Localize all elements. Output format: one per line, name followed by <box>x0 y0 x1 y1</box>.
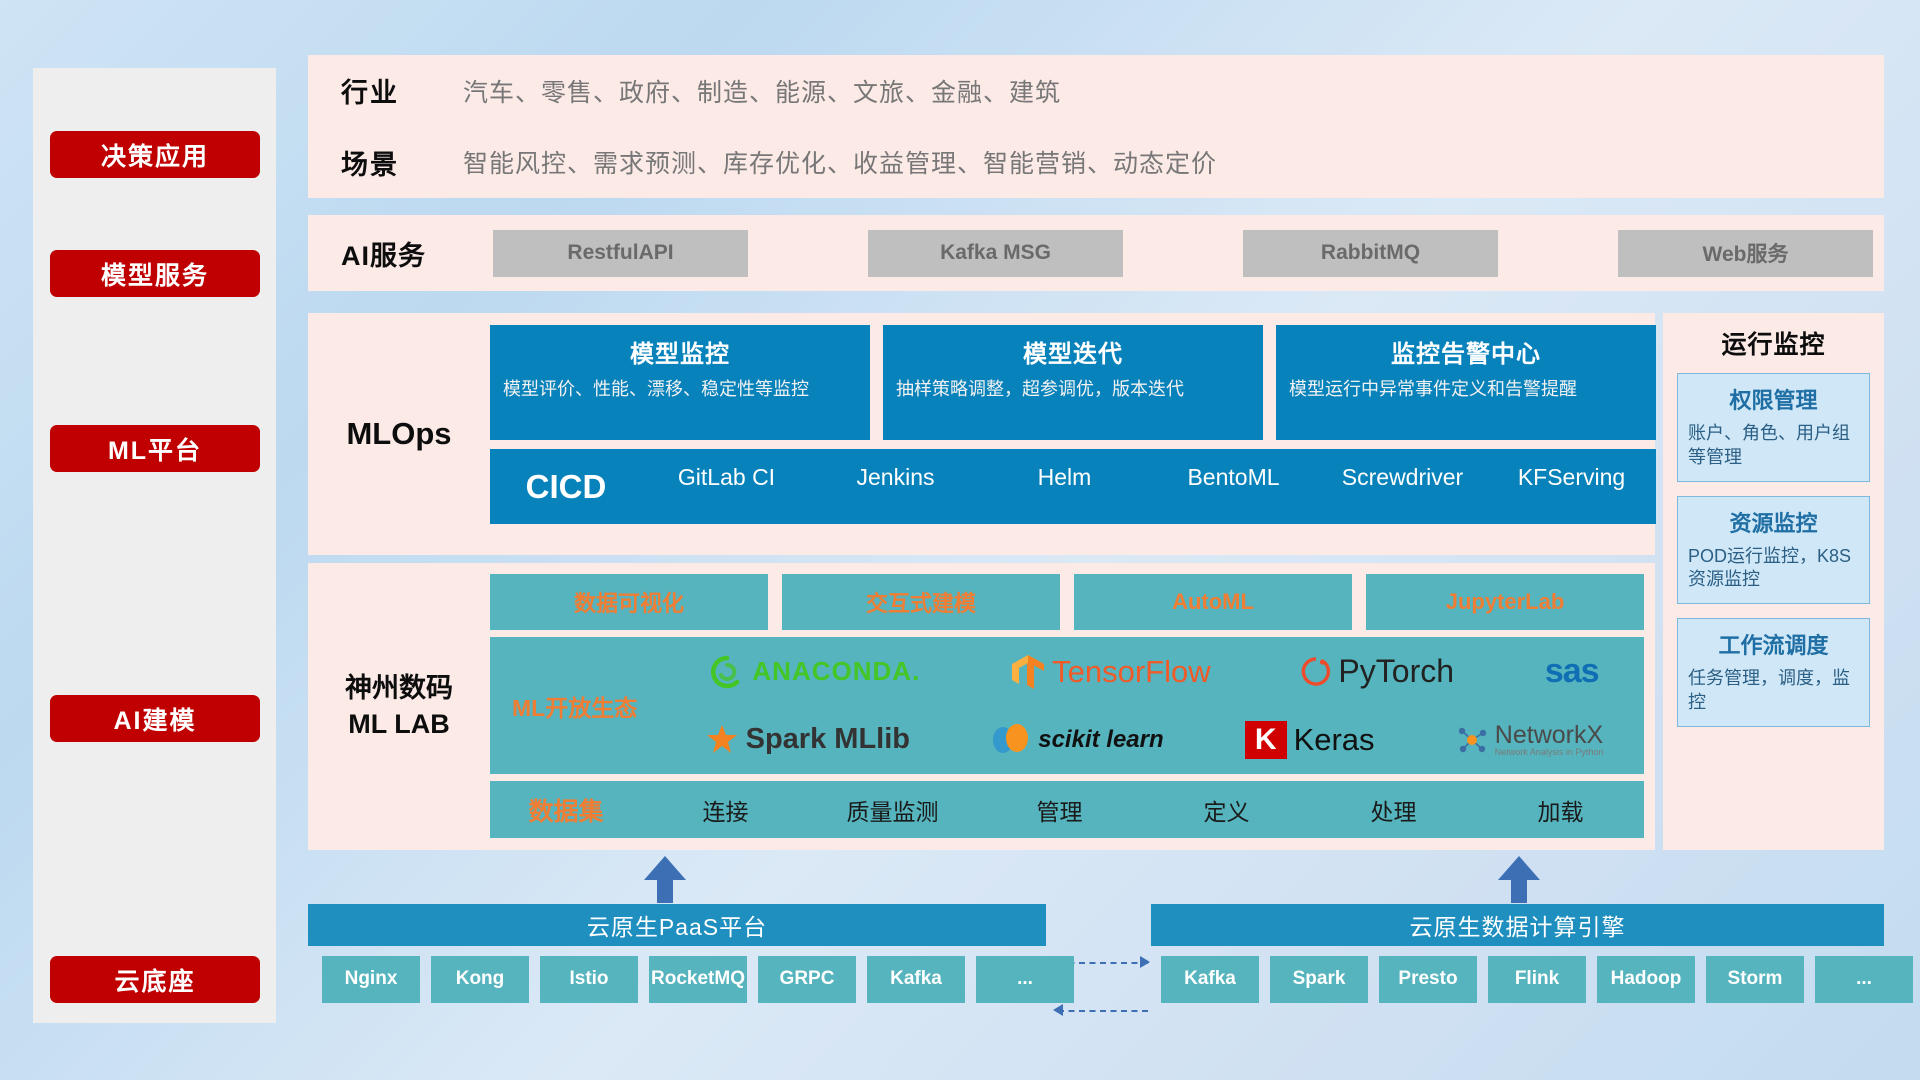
sas-wordmark: sas <box>1545 652 1599 691</box>
spark-star-icon <box>705 723 739 757</box>
scikit-learn-icon <box>991 723 1031 757</box>
card-title: 工作流调度 <box>1688 628 1859 660</box>
layer-rail: 决策应用 模型服务 ML平台 AI建模 云底座 <box>33 68 276 1023</box>
cf-chip-rocketmq[interactable]: RocketMQ <box>649 956 747 1003</box>
anaconda-wordmark: ANACONDA. <box>752 656 920 687</box>
card-desc: POD运行监控，K8S资源监控 <box>1688 545 1859 593</box>
decision-apps-band: 行业 汽车、零售、政府、制造、能源、文旅、金融、建筑 场景 智能风控、需求预测、… <box>308 55 1884 198</box>
keras-wordmark: Keras <box>1294 722 1375 758</box>
cf-chip-presto[interactable]: Presto <box>1379 956 1477 1003</box>
pytorch-logo: PyTorch <box>1301 653 1454 690</box>
dataset-item-process[interactable]: 处理 <box>1310 793 1477 827</box>
cloud-paas-chip-row: Nginx Kong Istio RocketMQ GRPC Kafka ... <box>322 956 1074 1003</box>
keras-logo: K Keras <box>1245 721 1375 759</box>
layer-label: ML平台 <box>108 431 202 467</box>
layer-label: 云底座 <box>114 962 195 998</box>
pytorch-wordmark: PyTorch <box>1338 653 1454 690</box>
dataset-item-manage[interactable]: 管理 <box>976 793 1143 827</box>
mlops-label-col: MLOps <box>308 313 490 555</box>
dataset-item-quality[interactable]: 质量监测 <box>809 793 976 827</box>
scenario-label: 场景 <box>341 143 463 182</box>
ml-ecosystem-logo-row-1: ANACONDA. TensorFlow <box>664 641 1644 703</box>
ml-lab-label-line1: 神州数码 <box>345 671 453 706</box>
ai-service-band: AI服务 RestfulAPI Kafka MSG RabbitMQ Web服务 <box>308 215 1884 291</box>
tensorflow-wordmark: TensorFlow <box>1052 654 1211 690</box>
cf-chip-flink[interactable]: Flink <box>1488 956 1586 1003</box>
cicd-item-kfserving[interactable]: KFServing <box>1487 463 1656 491</box>
dataset-item-define[interactable]: 定义 <box>1143 793 1310 827</box>
mlops-body: 模型监控 模型评价、性能、漂移、稳定性等监控 模型迭代 抽样策略调整，超参调优，… <box>490 313 1667 535</box>
ai-service-chip-restfulapi[interactable]: RestfulAPI <box>493 230 748 277</box>
dataset-item-row: 连接 质量监测 管理 定义 处理 加载 <box>642 793 1644 827</box>
ml-ecosystem-logo-row-2: Spark MLlib scikit learn K Keras <box>664 709 1644 771</box>
cf-chip-nginx[interactable]: Nginx <box>322 956 420 1003</box>
layer-chip-ml-platform[interactable]: ML平台 <box>50 425 260 472</box>
pytorch-icon <box>1301 654 1331 690</box>
card-desc: 模型评价、性能、漂移、稳定性等监控 <box>503 378 857 402</box>
layer-label: 模型服务 <box>101 256 209 292</box>
tensorflow-icon <box>1011 653 1045 691</box>
runtime-monitor-title: 运行监控 <box>1677 325 1870 361</box>
cf-chip-kafka[interactable]: Kafka <box>867 956 965 1003</box>
card-desc: 账户、角色、用户组等管理 <box>1688 422 1859 470</box>
scikit-learn-wordmark: scikit learn <box>1038 726 1163 754</box>
scenario-row: 场景 智能风控、需求预测、库存优化、收益管理、智能营销、动态定价 <box>308 127 1884 199</box>
cicd-item-bentoml[interactable]: BentoML <box>1149 463 1318 491</box>
cf-chip-spark[interactable]: Spark <box>1270 956 1368 1003</box>
cf-chip-storm[interactable]: Storm <box>1706 956 1804 1003</box>
card-title: 资源监控 <box>1688 506 1859 538</box>
architecture-diagram: 决策应用 模型服务 ML平台 AI建模 云底座 行业 汽车、零售、政府、制造、能… <box>0 0 1920 1080</box>
card-desc: 任务管理，调度，监控 <box>1688 667 1859 715</box>
dataset-item-load[interactable]: 加载 <box>1477 793 1644 827</box>
monitor-card-workflow[interactable]: 工作流调度 任务管理，调度，监控 <box>1677 618 1870 727</box>
scikit-learn-logo: scikit learn <box>991 723 1163 757</box>
ml-lab-body: 数据可视化 交互式建模 AutoML JupyterLab ML开放生态 ANA… <box>490 563 1655 849</box>
monitor-card-resource[interactable]: 资源监控 POD运行监控，K8S资源监控 <box>1677 496 1870 605</box>
industry-value: 汽车、零售、政府、制造、能源、文旅、金融、建筑 <box>463 73 1061 109</box>
card-title: 模型监控 <box>503 334 857 369</box>
ai-service-chip-rabbitmq[interactable]: RabbitMQ <box>1243 230 1498 277</box>
ai-service-chip-web-service[interactable]: Web服务 <box>1618 230 1873 277</box>
mlops-band: MLOps 模型监控 模型评价、性能、漂移、稳定性等监控 模型迭代 抽样策略调整… <box>308 313 1655 555</box>
cicd-item-row: GitLab CI Jenkins Helm BentoML Screwdriv… <box>642 449 1656 524</box>
layer-chip-ai-modeling[interactable]: AI建模 <box>50 695 260 742</box>
cicd-item-screwdriver[interactable]: Screwdriver <box>1318 463 1487 491</box>
networkx-logo: NetworkX Network Analysis in Python <box>1456 723 1604 757</box>
tool-chip-interactive-modeling[interactable]: 交互式建模 <box>782 574 1060 630</box>
arrow-up-paas <box>644 856 686 902</box>
ml-ecosystem-logo-grid: ANACONDA. TensorFlow <box>664 641 1644 771</box>
ml-lab-label-line2: ML LAB <box>348 707 450 742</box>
ml-lab-tool-chip-row: 数据可视化 交互式建模 AutoML JupyterLab <box>490 574 1644 630</box>
cf-chip-grpc[interactable]: GRPC <box>758 956 856 1003</box>
industry-label: 行业 <box>341 71 463 110</box>
ai-service-chip-kafka-msg[interactable]: Kafka MSG <box>868 230 1123 277</box>
dashed-arrow-right-head <box>1140 956 1150 968</box>
cf-chip-kafka-data[interactable]: Kafka <box>1161 956 1259 1003</box>
card-title: 模型迭代 <box>896 334 1250 369</box>
mlops-card-alert-center[interactable]: 监控告警中心 模型运行中异常事件定义和告警提醒 <box>1276 325 1656 440</box>
ml-ecosystem-block: ML开放生态 ANACONDA. <box>490 637 1644 774</box>
mlops-label: MLOps <box>346 416 451 452</box>
cloud-data-engine-bar[interactable]: 云原生数据计算引擎 <box>1151 904 1884 946</box>
anaconda-icon <box>709 654 745 690</box>
arrow-up-data-engine <box>1498 856 1540 902</box>
networkx-tagline: Network Analysis in Python <box>1495 748 1604 757</box>
layer-chip-cloud-base[interactable]: 云底座 <box>50 956 260 1003</box>
anaconda-logo: ANACONDA. <box>709 654 920 690</box>
cf-chip-hadoop[interactable]: Hadoop <box>1597 956 1695 1003</box>
layer-label: AI建模 <box>113 701 196 737</box>
networkx-graph-icon <box>1456 724 1488 756</box>
dashed-arrow-left-head <box>1053 1004 1063 1016</box>
sas-logo: sas <box>1545 652 1599 691</box>
tool-chip-data-visualization[interactable]: 数据可视化 <box>490 574 768 630</box>
card-desc: 抽样策略调整，超参调优，版本迭代 <box>896 378 1250 402</box>
cloud-data-engine-chip-row: Kafka Spark Presto Flink Hadoop Storm ..… <box>1161 956 1913 1003</box>
cloud-paas-title: 云原生PaaS平台 <box>587 908 767 942</box>
ml-ecosystem-label: ML开放生态 <box>512 689 664 723</box>
scenario-value: 智能风控、需求预测、库存优化、收益管理、智能营销、动态定价 <box>463 144 1217 180</box>
cicd-bar: CICD GitLab CI Jenkins Helm BentoML Scre… <box>490 449 1656 524</box>
cf-chip-more[interactable]: ... <box>976 956 1074 1003</box>
cf-chip-istio[interactable]: Istio <box>540 956 638 1003</box>
tool-chip-automl[interactable]: AutoML <box>1074 574 1352 630</box>
cloud-paas-bar[interactable]: 云原生PaaS平台 <box>308 904 1046 946</box>
card-title: 权限管理 <box>1688 383 1859 415</box>
cf-chip-kong[interactable]: Kong <box>431 956 529 1003</box>
dataset-title: 数据集 <box>490 792 642 828</box>
dashed-link-left <box>1058 1010 1148 1012</box>
card-title: 监控告警中心 <box>1289 334 1643 369</box>
runtime-monitor-panel: 运行监控 权限管理 账户、角色、用户组等管理 资源监控 POD运行监控，K8S资… <box>1663 313 1884 850</box>
cicd-title: CICD <box>490 468 642 506</box>
monitor-card-permission[interactable]: 权限管理 账户、角色、用户组等管理 <box>1677 373 1870 482</box>
industry-row: 行业 汽车、零售、政府、制造、能源、文旅、金融、建筑 <box>308 55 1884 127</box>
mlops-card-model-iteration[interactable]: 模型迭代 抽样策略调整，超参调优，版本迭代 <box>883 325 1263 440</box>
tool-chip-jupyterlab[interactable]: JupyterLab <box>1366 574 1644 630</box>
layer-label: 决策应用 <box>101 137 209 173</box>
cf-chip-more-data[interactable]: ... <box>1815 956 1913 1003</box>
ai-service-label: AI服务 <box>341 234 493 273</box>
cicd-item-jenkins[interactable]: Jenkins <box>811 463 980 491</box>
card-desc: 模型运行中异常事件定义和告警提醒 <box>1289 378 1643 402</box>
mlops-card-row: 模型监控 模型评价、性能、漂移、稳定性等监控 模型迭代 抽样策略调整，超参调优，… <box>490 325 1656 440</box>
layer-chip-model-service[interactable]: 模型服务 <box>50 250 260 297</box>
spark-mllib-logo: Spark MLlib <box>705 723 910 757</box>
mlops-card-model-monitoring[interactable]: 模型监控 模型评价、性能、漂移、稳定性等监控 <box>490 325 870 440</box>
ml-lab-band: 神州数码 ML LAB 数据可视化 交互式建模 AutoML JupyterLa… <box>308 563 1655 850</box>
ai-service-chip-row: RestfulAPI Kafka MSG RabbitMQ Web服务 <box>493 230 1884 277</box>
cicd-item-gitlab-ci[interactable]: GitLab CI <box>642 463 811 491</box>
dataset-bar: 数据集 连接 质量监测 管理 定义 处理 加载 <box>490 781 1644 838</box>
layer-chip-decision-app[interactable]: 决策应用 <box>50 131 260 178</box>
ml-lab-label-col: 神州数码 ML LAB <box>308 563 490 850</box>
cicd-item-helm[interactable]: Helm <box>980 463 1149 491</box>
tensorflow-logo: TensorFlow <box>1011 653 1211 691</box>
networkx-wordmark: NetworkX <box>1495 723 1604 748</box>
cloud-data-engine-title: 云原生数据计算引擎 <box>1410 908 1626 942</box>
dataset-item-connect[interactable]: 连接 <box>642 793 809 827</box>
keras-k-icon: K <box>1245 721 1287 759</box>
spark-wordmark: Spark MLlib <box>746 723 910 756</box>
